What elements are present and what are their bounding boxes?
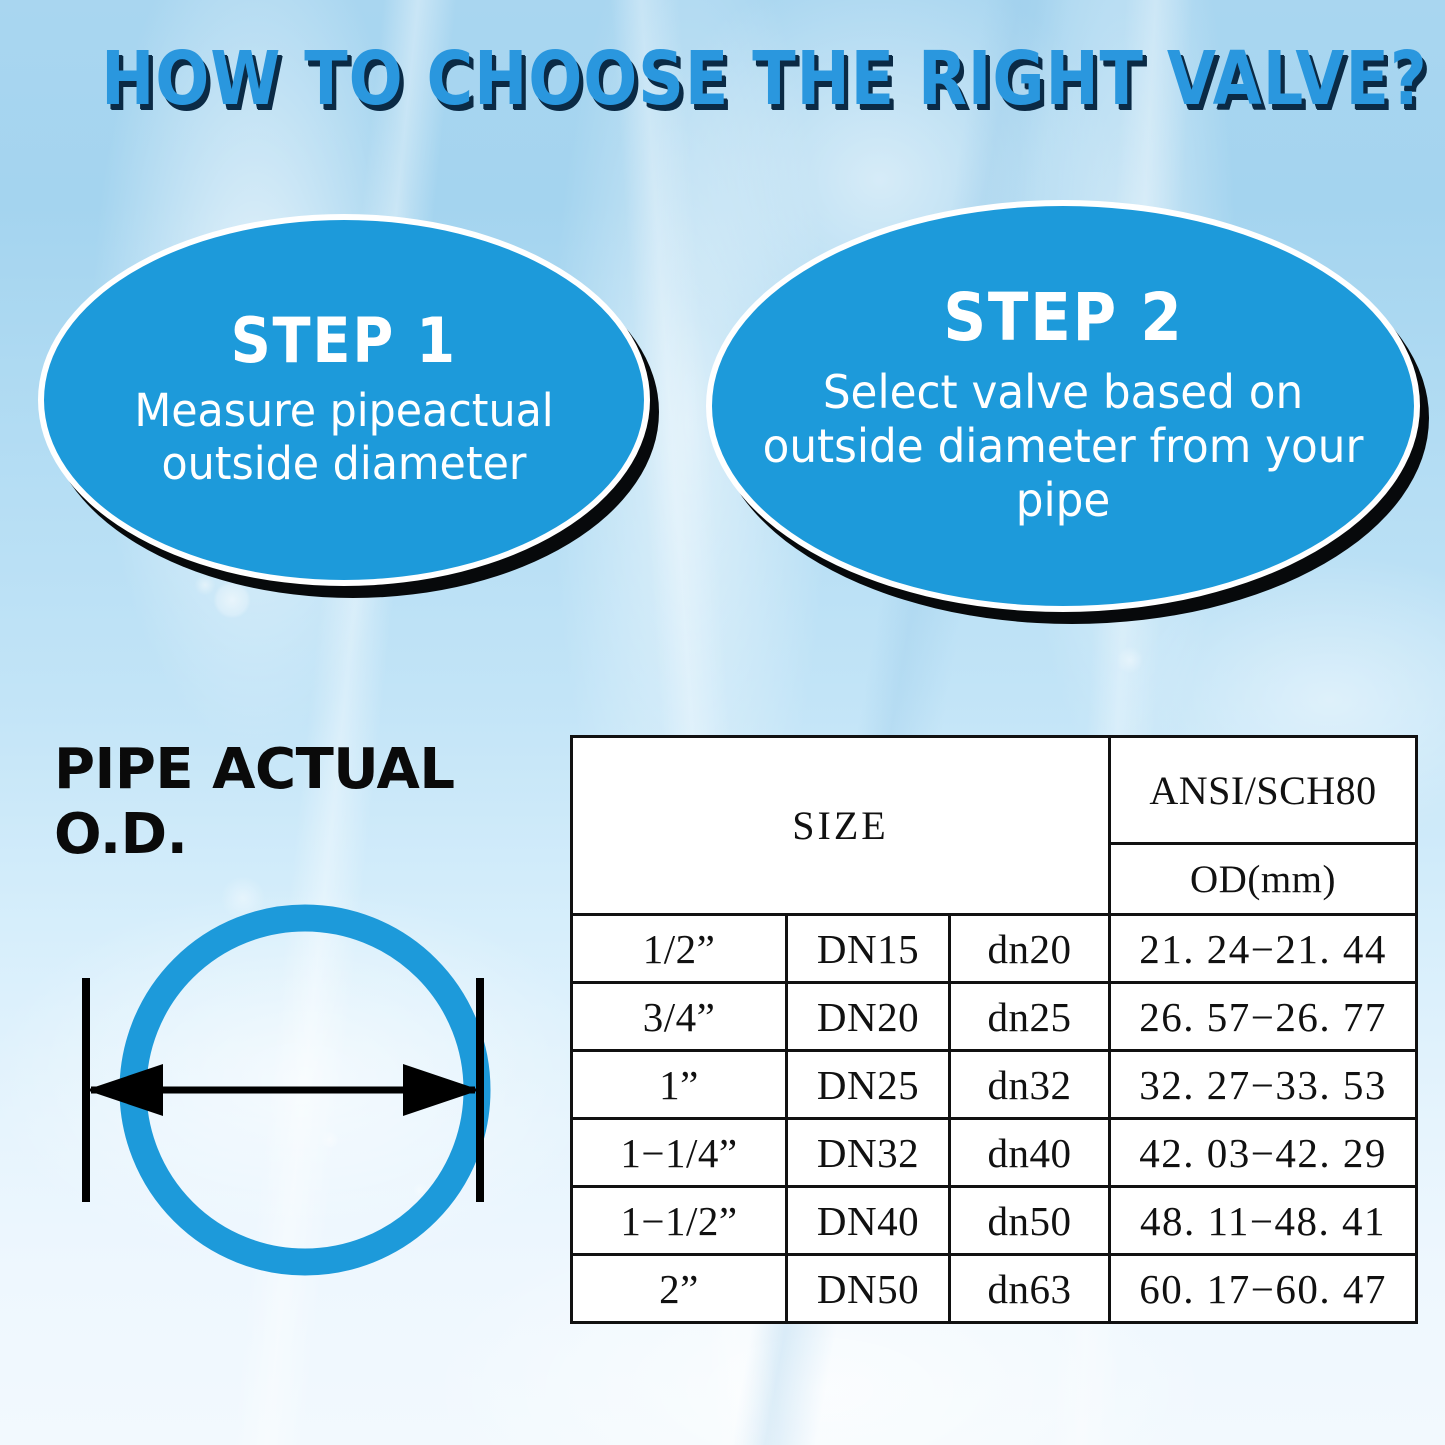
cell-size-dn: DN50 bbox=[787, 1255, 950, 1323]
cell-size-dn: DN32 bbox=[787, 1119, 950, 1187]
step-1-oval: STEP 1 Measure pipeactual outside diamet… bbox=[38, 214, 650, 586]
cell-size-inch: 1−1/4” bbox=[572, 1119, 787, 1187]
table-row: 1−1/2” DN40 dn50 48. 11−48. 41 bbox=[572, 1187, 1417, 1255]
cell-od-range: 32. 27−33. 53 bbox=[1110, 1051, 1417, 1119]
outside-diameter-diagram bbox=[55, 880, 555, 1300]
step-1-description: Measure pipeactual outside diameter bbox=[78, 384, 610, 490]
cell-size-dn-met: dn40 bbox=[950, 1119, 1110, 1187]
table-row: 1/2” DN15 dn20 21. 24−21. 44 bbox=[572, 915, 1417, 983]
table-row: 1” DN25 dn32 32. 27−33. 53 bbox=[572, 1051, 1417, 1119]
cell-size-inch: 2” bbox=[572, 1255, 787, 1323]
step-2-oval: STEP 2 Select valve based on outside dia… bbox=[706, 200, 1420, 612]
pipe-size-table: SIZE ANSI/SCH80 OD(mm) 1/2” DN15 dn20 21… bbox=[570, 735, 1418, 1324]
cell-od-range: 48. 11−48. 41 bbox=[1110, 1187, 1417, 1255]
cell-od-range: 21. 24−21. 44 bbox=[1110, 915, 1417, 983]
page-title: HOW TO CHOOSE THE RIGHT VALVE? bbox=[101, 42, 1344, 116]
cell-size-dn-met: dn63 bbox=[950, 1255, 1110, 1323]
table-row: 3/4” DN20 dn25 26. 57−26. 77 bbox=[572, 983, 1417, 1051]
step-2-description: Select valve based on outside diameter f… bbox=[759, 365, 1367, 528]
cell-size-dn: DN40 bbox=[787, 1187, 950, 1255]
cell-size-inch: 1−1/2” bbox=[572, 1187, 787, 1255]
cell-size-dn-met: dn20 bbox=[950, 915, 1110, 983]
cell-od-range: 26. 57−26. 77 bbox=[1110, 983, 1417, 1051]
cell-od-range: 42. 03−42. 29 bbox=[1110, 1119, 1417, 1187]
table-header-standard: ANSI/SCH80 bbox=[1110, 737, 1417, 844]
infographic-canvas: HOW TO CHOOSE THE RIGHT VALVE? STEP 1 Me… bbox=[0, 0, 1445, 1445]
cell-size-dn: DN25 bbox=[787, 1051, 950, 1119]
cell-size-inch: 1” bbox=[572, 1051, 787, 1119]
cell-size-dn-met: dn32 bbox=[950, 1051, 1110, 1119]
pipe-actual-od-heading: PIPE ACTUAL O.D. bbox=[54, 738, 554, 868]
cell-size-dn: DN20 bbox=[787, 983, 950, 1051]
cell-size-inch: 1/2” bbox=[572, 915, 787, 983]
cell-size-inch: 3/4” bbox=[572, 983, 787, 1051]
step-1-label: STEP 1 bbox=[231, 310, 457, 372]
table-row: 1−1/4” DN32 dn40 42. 03−42. 29 bbox=[572, 1119, 1417, 1187]
table-body: 1/2” DN15 dn20 21. 24−21. 44 3/4” DN20 d… bbox=[572, 915, 1417, 1323]
table-header: SIZE ANSI/SCH80 OD(mm) bbox=[572, 737, 1417, 915]
cell-size-dn-met: dn50 bbox=[950, 1187, 1110, 1255]
table-row: 2” DN50 dn63 60. 17−60. 47 bbox=[572, 1255, 1417, 1323]
cell-size-dn: DN15 bbox=[787, 915, 950, 983]
table-header-row-1: SIZE ANSI/SCH80 bbox=[572, 737, 1417, 844]
table-header-size: SIZE bbox=[572, 737, 1110, 915]
step-2-label: STEP 2 bbox=[943, 285, 1183, 351]
cell-size-dn-met: dn25 bbox=[950, 983, 1110, 1051]
table-header-od: OD(mm) bbox=[1110, 844, 1417, 915]
cell-od-range: 60. 17−60. 47 bbox=[1110, 1255, 1417, 1323]
